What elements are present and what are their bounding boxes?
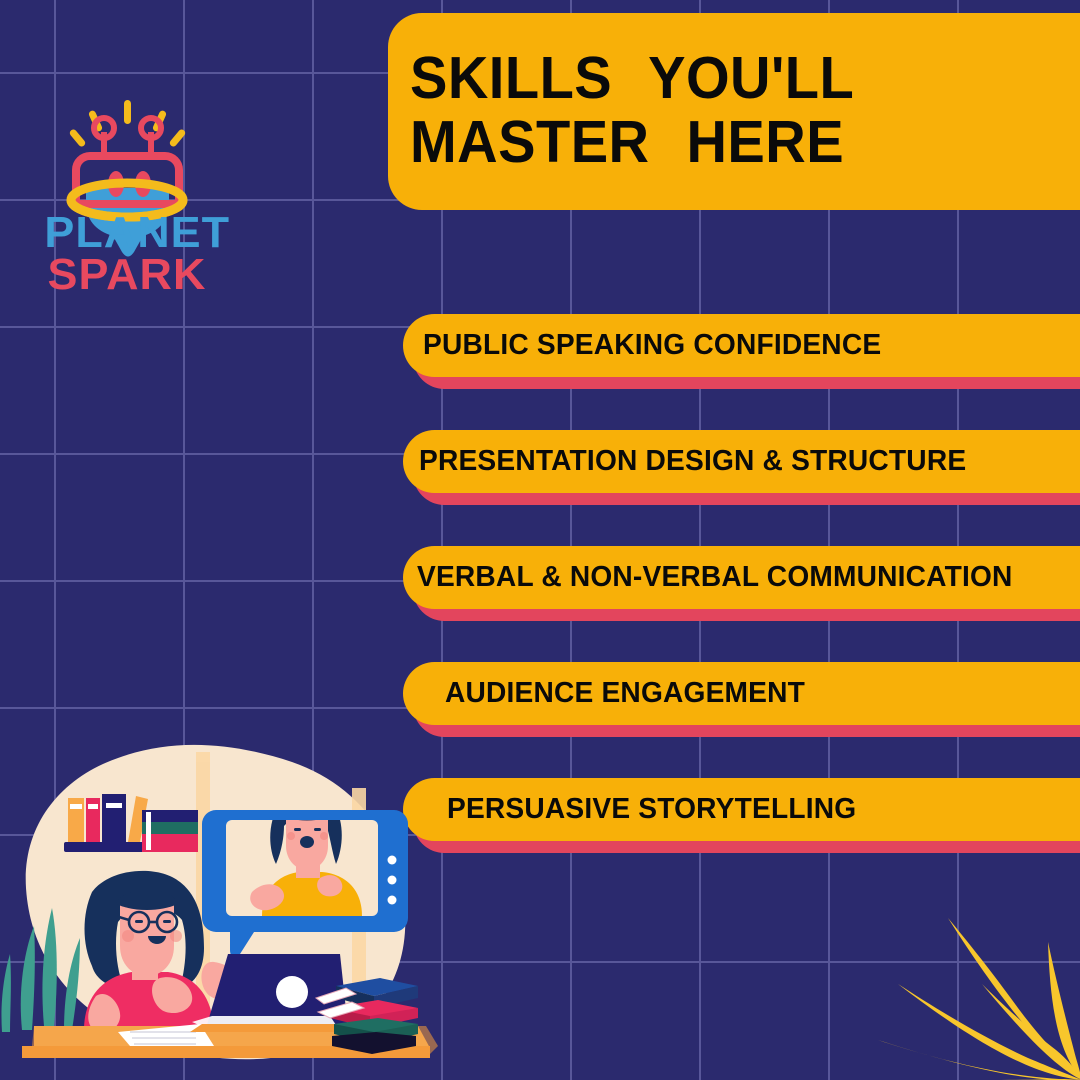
student-arm-left [88, 994, 120, 1033]
remote-hair [270, 794, 342, 864]
desk-top [34, 1026, 430, 1048]
skill-pill[interactable]: AUDIENCE ENGAGEMENT [403, 662, 1080, 725]
screen-dots [388, 856, 397, 905]
desk-edge [22, 1046, 430, 1058]
page-title: SKILLS YOU'LL MASTER HERE [410, 47, 1016, 174]
desk [22, 1026, 438, 1058]
remote-hand-left [250, 884, 284, 910]
skill-label: PUBLIC SPEAKING CONFIDENCE [423, 329, 881, 362]
screen-inner [226, 820, 378, 916]
poster-canvas: PLANET SPARK SKILLS YOU'LL MASTER HERE P… [0, 0, 1080, 1080]
illustration-backdrop-blob [26, 745, 406, 1059]
skill-row[interactable]: VERBAL & NON-VERBAL COMMUNICATION [403, 546, 1080, 662]
remote-face [286, 816, 328, 870]
skills-list: PUBLIC SPEAKING CONFIDENCE PRESENTATION … [403, 314, 1080, 894]
student-glasses [119, 912, 177, 932]
laptop-logo [276, 976, 308, 1008]
skill-label: VERBAL & NON-VERBAL COMMUNICATION [417, 561, 1013, 594]
remote-mouth [300, 836, 314, 848]
student-hand-left [152, 977, 192, 1013]
screen-frame [202, 810, 408, 957]
skill-label: PERSUASIVE STORYTELLING [447, 793, 856, 826]
brand-wordmark: PLANET SPARK [46, 212, 208, 296]
student-mouth [148, 936, 166, 944]
student-face [120, 902, 174, 976]
skill-pill[interactable]: PRESENTATION DESIGN & STRUCTURE [403, 430, 1080, 493]
palm-leaf-corner-decoration [850, 880, 1080, 1080]
skill-row[interactable]: AUDIENCE ENGAGEMENT [403, 662, 1080, 778]
student-hand-right [201, 962, 240, 1000]
skill-pill[interactable]: VERBAL & NON-VERBAL COMMUNICATION [403, 546, 1080, 609]
brand-name-line2: SPARK [44, 254, 209, 296]
remote-person [250, 794, 362, 916]
bookshelf [64, 794, 198, 852]
skill-row[interactable]: PRESENTATION DESIGN & STRUCTURE [403, 430, 1080, 546]
video-call-screen [202, 794, 408, 957]
laptop-keyboard [192, 1016, 338, 1028]
skill-row[interactable]: PUBLIC SPEAKING CONFIDENCE [403, 314, 1080, 430]
paper-sheet [118, 1024, 214, 1046]
title-banner: SKILLS YOU'LL MASTER HERE [388, 13, 1080, 210]
online-class-illustration [0, 740, 450, 1080]
remote-hand-right [317, 875, 342, 896]
palm-leaf-icon [878, 918, 1080, 1080]
plant [1, 908, 80, 1032]
laptop-lid [206, 954, 348, 1028]
skill-label: AUDIENCE ENGAGEMENT [445, 677, 805, 710]
logo-spark-rays [68, 100, 186, 148]
shelf-board [64, 842, 182, 852]
book-stack [316, 978, 418, 1054]
wall-panels [196, 752, 366, 1032]
skill-label: PRESENTATION DESIGN & STRUCTURE [419, 445, 966, 478]
skill-pill[interactable]: PERSUASIVE STORYTELLING [403, 778, 1080, 841]
skill-pill[interactable]: PUBLIC SPEAKING CONFIDENCE [403, 314, 1080, 377]
laptop [190, 954, 354, 1032]
student-foreground [84, 871, 240, 1033]
brand-name-line1: PLANET [44, 212, 209, 254]
laptop-base [190, 1024, 354, 1032]
skill-row[interactable]: PERSUASIVE STORYTELLING [403, 778, 1080, 894]
remote-shirt [262, 872, 362, 916]
student-hair [85, 871, 205, 988]
student-shirt [84, 972, 214, 1030]
